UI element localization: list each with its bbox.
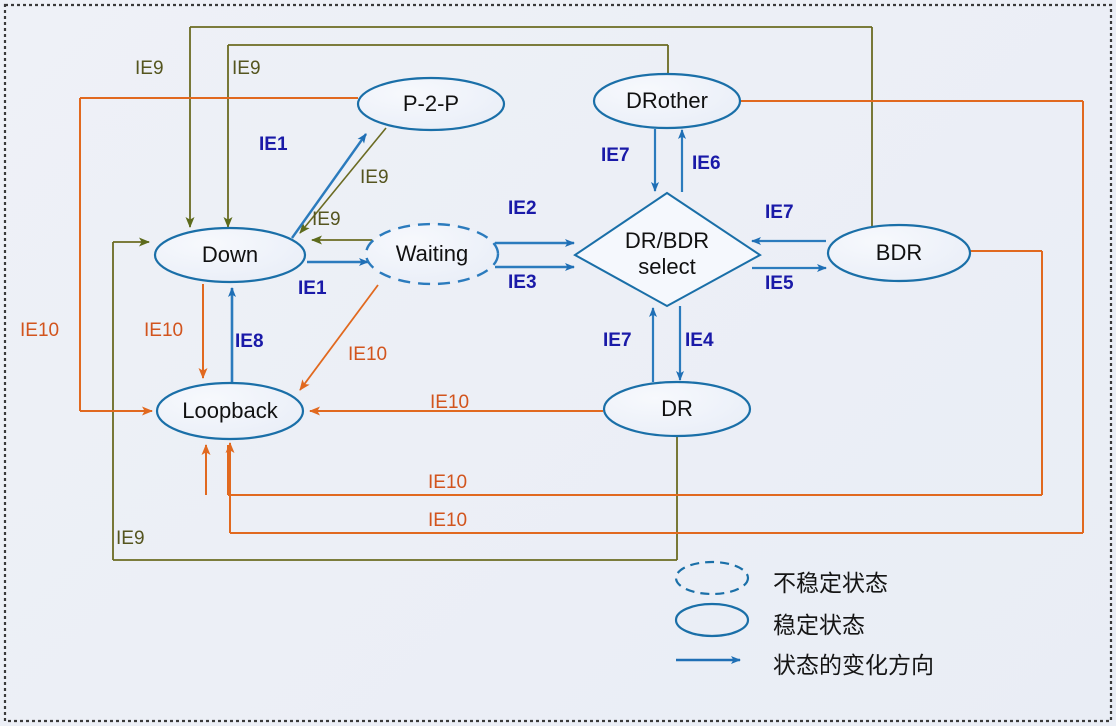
node-drbdr-select[interactable] <box>575 193 760 306</box>
node-waiting[interactable] <box>366 224 498 284</box>
node-drother[interactable] <box>594 74 740 128</box>
node-down[interactable] <box>155 228 305 282</box>
legend-label-unstable: 不稳定状态 <box>773 564 888 598</box>
dashed-ellipse-icon <box>676 562 748 594</box>
node-p2p[interactable] <box>358 78 504 130</box>
edge-p2p-down-ie9 <box>300 128 386 233</box>
node-bdr[interactable] <box>828 225 970 281</box>
edge-waiting-loopback-ie10 <box>300 285 378 390</box>
solid-ellipse-icon <box>676 604 748 636</box>
node-dr[interactable] <box>604 382 750 436</box>
diagram-canvas: P-2-P DRother Down Waiting DR/BDR select… <box>0 0 1116 726</box>
legend-label-direction: 状态的变化方向 <box>773 646 934 680</box>
legend-label-stable: 稳定状态 <box>773 606 865 640</box>
state-machine-svg <box>0 0 1116 726</box>
node-loopback[interactable] <box>157 383 303 439</box>
page-border <box>5 5 1111 721</box>
edge-down-p2p-ie1 <box>292 134 366 238</box>
